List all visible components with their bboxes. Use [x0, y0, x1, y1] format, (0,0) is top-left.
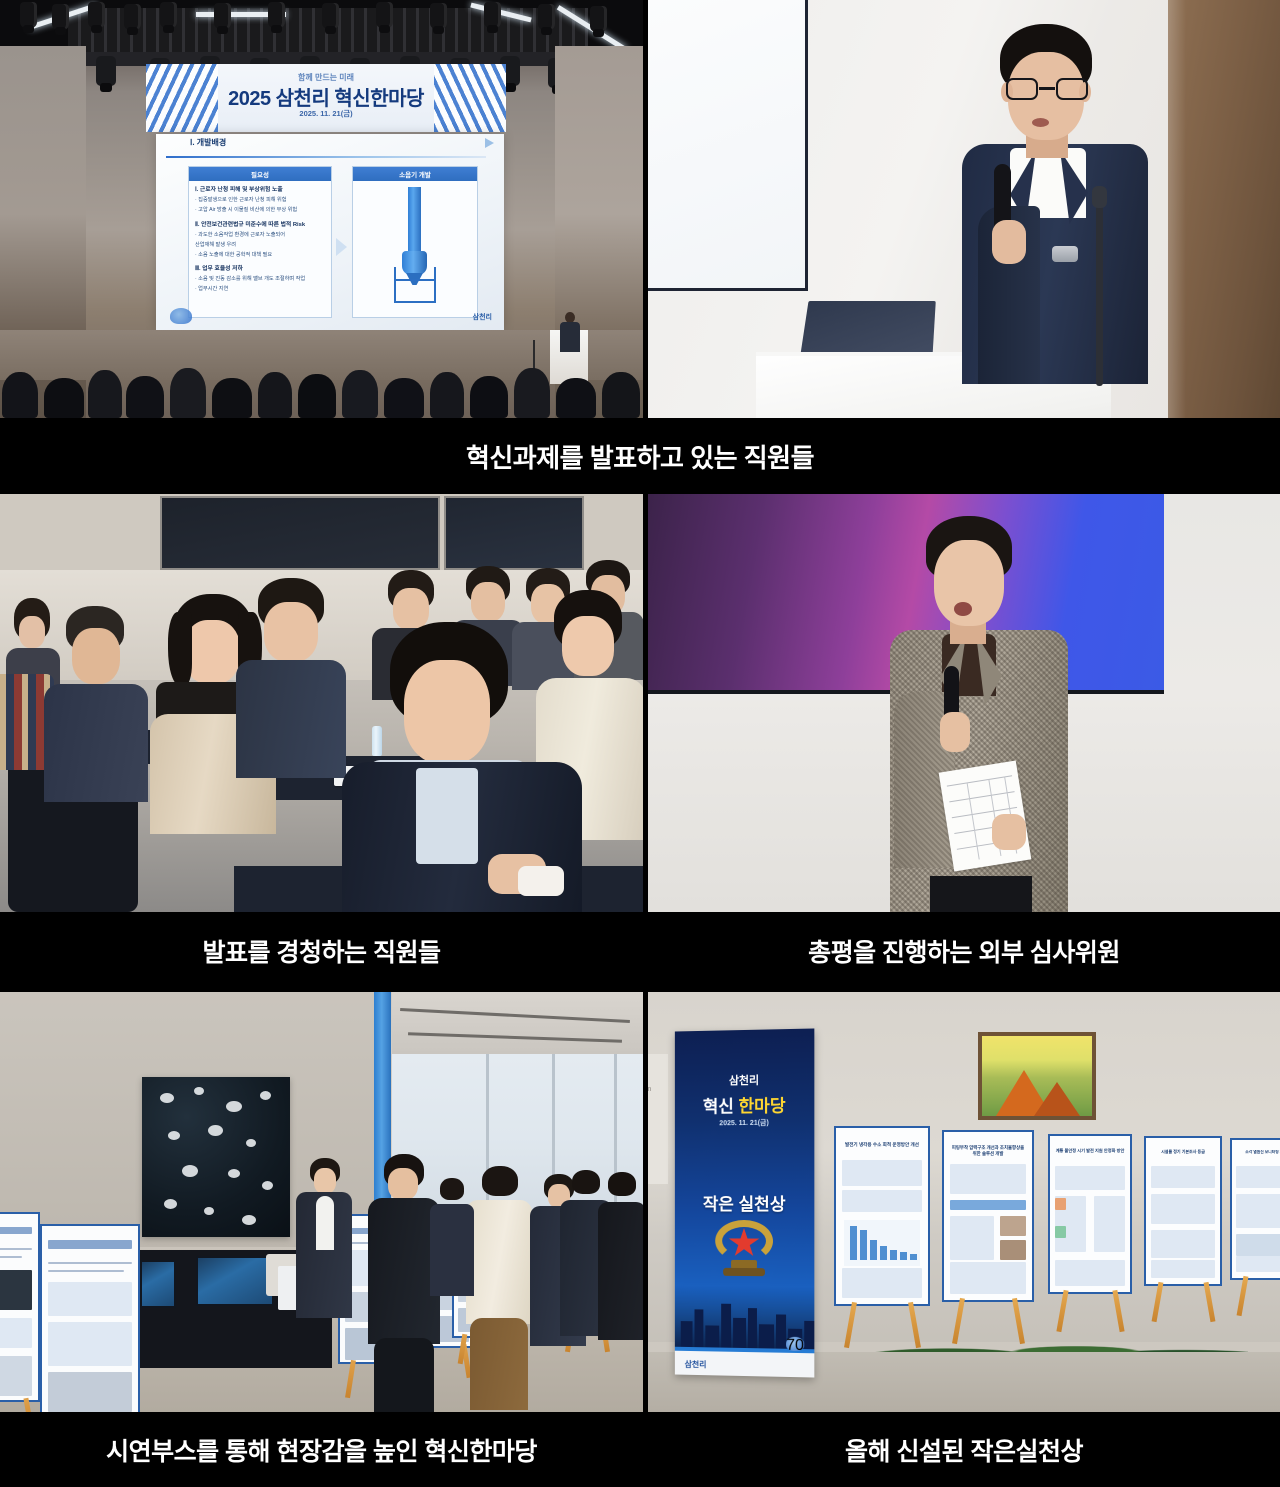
monitor-display — [140, 1260, 176, 1308]
banner-date: 2025. 11. 21(금) — [675, 1117, 814, 1128]
wood-wall-panel — [1168, 0, 1280, 418]
poster-easel — [0, 1212, 40, 1412]
slide-column-necessity-header: 필요성 — [189, 167, 331, 181]
presentation-screen — [648, 0, 808, 291]
silencer-device-illustration — [389, 187, 441, 305]
poster-easel: 피팅부착 압력구조 개선과 조치율향상을 위한 솔루션 개발 — [942, 1130, 1034, 1344]
audience-person — [236, 578, 346, 778]
slide-item-5: · 과도한 소음작업 환경에 근로자 노출되어 — [195, 231, 325, 241]
photo-small-practice-award-image: P실 P Room 삼천리 혁신 한마당 2025. 11. 21(금) 작은 … — [648, 992, 1280, 1412]
slide-item-8: Ⅲ. 업무 효율성 저하 — [195, 266, 243, 272]
slide-item-2: · 집중발생으로 인한 근로자 난청 피해 위험 — [195, 196, 325, 206]
slide-item-4: Ⅱ. 안전보건관련법규 미준수에 따른 법적 Risk — [195, 222, 305, 228]
glasses-icon — [1006, 78, 1088, 100]
anniversary-70-badge: 70 — [786, 1337, 804, 1351]
poster-title: 소각 열원진 모니터링 체계 — [1236, 1150, 1280, 1160]
poster-easel: 시설물 정기 기본조사 등급 — [1144, 1136, 1222, 1322]
slide-brand-logo: 삼천리 — [473, 312, 492, 322]
projection-slide: Ⅰ. 개발배경 필요성 Ⅰ. 근로자 난청 피해 및 부상위험 노출 · 집중발… — [156, 134, 504, 330]
slide-item-10: · 업무시간 지연 — [195, 285, 325, 295]
stage-banner-date: 2025. 11. 21(금) — [146, 108, 506, 119]
photo-presentation-stage: 함께 만드는 미래 2025 삼천리 혁신한마당 2025. 11. 21(금)… — [0, 0, 643, 418]
poster-title: 발전기 냉각용 수소 회적 운영방안 개선 — [842, 1142, 922, 1154]
banner-footer-brand: 삼천리 — [685, 1359, 707, 1370]
poster-title: 시설물 정기 기본조사 등급 — [1151, 1149, 1215, 1159]
slide-item-7: · 소음 노출에 대한 공학적 대책 필요 — [195, 251, 325, 261]
slide-item-1: Ⅰ. 근로자 난청 피해 및 부상위험 노출 — [195, 187, 283, 193]
wall-artwork — [142, 1077, 290, 1237]
booth-person — [466, 1166, 532, 1410]
caption-presentation: 혁신과제를 발표하고 있는 직원들 — [0, 418, 1280, 494]
photo-podium-speaker-image — [648, 0, 1280, 418]
slide-item-9: · 소음 및 진동 감소를 위해 밸브 개도 조절하며 작업 — [195, 275, 325, 285]
audience-person-foreground — [342, 622, 582, 912]
audience-silhouettes — [0, 360, 643, 418]
room-sign-line2: P Room — [648, 1086, 651, 1093]
photo-external-judge-image — [648, 494, 1280, 912]
poster-easel: 소각 열원진 모니터링 체계 — [1230, 1138, 1280, 1316]
poster-easel: 계통 불안정 시기 발전 지원 안정화 방안 — [1048, 1134, 1132, 1332]
stage-banner-title: 2025 삼천리 혁신한마당 — [146, 82, 506, 111]
room-sign — [648, 1054, 668, 1184]
anniversary-70-logo — [170, 308, 192, 324]
rollup-banner: 삼천리 혁신 한마당 2025. 11. 21(금) 작은 실천상 — [675, 1028, 814, 1377]
banner-award-name: 작은 실천상 — [675, 1190, 814, 1215]
photo-demo-booth-image — [0, 992, 643, 1412]
photo-external-judge — [648, 494, 1280, 912]
monitor-display — [196, 1256, 274, 1306]
slide-column-silencer: 소음기 개발 — [352, 166, 478, 318]
microphone-stand — [1096, 200, 1103, 386]
booth-person — [598, 1172, 643, 1340]
caption-award: 올해 신설된 작은실천상 — [648, 1412, 1280, 1487]
banner-title-part1: 혁신 — [703, 1097, 739, 1116]
poster-title: 계통 불안정 시기 발전 지원 안정화 방안 — [1055, 1148, 1125, 1159]
stage-presenter — [560, 312, 580, 352]
banner-brand-logo: 삼천리 — [675, 1071, 814, 1089]
photo-audience — [0, 494, 643, 912]
stage-banner: 함께 만드는 미래 2025 삼천리 혁신한마당 2025. 11. 21(금) — [146, 64, 506, 132]
booth-person — [430, 1178, 474, 1296]
slide-item-6: 산업재해 발생 우려 — [195, 241, 325, 251]
banner-title: 혁신 한마당 — [675, 1091, 814, 1118]
photo-small-practice-award: P실 P Room 삼천리 혁신 한마당 2025. 11. 21(금) 작은 … — [648, 992, 1280, 1412]
photo-gallery-page: 함께 만드는 미래 2025 삼천리 혁신한마당 2025. 11. 21(금)… — [0, 0, 1280, 1487]
caption-audience: 발표를 경청하는 직원들 — [0, 912, 643, 990]
trophy-icon — [711, 1220, 777, 1282]
poster-easel: 발전기 냉각용 수소 회적 운영방안 개선 — [834, 1126, 930, 1348]
slide-title: Ⅰ. 개발배경 — [190, 137, 226, 148]
caption-judge: 총평을 진행하는 외부 심사위원 — [648, 912, 1280, 990]
photo-audience-image — [0, 494, 643, 912]
poster-easel — [40, 1224, 140, 1412]
banner-title-part2: 한마당 — [739, 1096, 786, 1116]
booth-person — [296, 1158, 352, 1318]
arrow-icon — [336, 238, 347, 256]
play-triangle-icon — [485, 138, 494, 148]
audience-person — [44, 606, 148, 802]
photo-demo-booth — [0, 992, 643, 1412]
slide-column-necessity: 필요성 Ⅰ. 근로자 난청 피해 및 부상위험 노출 · 집중발생으로 인한 근… — [188, 166, 332, 318]
poster-title: 피팅부착 압력구조 개선과 조치율향상을 위한 솔루션 개발 — [950, 1145, 1026, 1157]
judge-person — [888, 516, 1098, 912]
photo-presentation-stage-image: 함께 만드는 미래 2025 삼천리 혁신한마당 2025. 11. 21(금)… — [0, 0, 643, 418]
wristwatch — [1052, 246, 1078, 262]
caption-demo-booth: 시연부스를 통해 현장감을 높인 혁신한마당 — [0, 1412, 643, 1487]
speaker-person — [948, 24, 1158, 384]
slide-item-3: · 고압 Air 방출 시 이물질 비산에 의한 부상 위험 — [195, 206, 325, 216]
wall-painting — [978, 1032, 1096, 1120]
photo-podium-speaker — [648, 0, 1280, 418]
slide-column-silencer-header: 소음기 개발 — [353, 167, 477, 181]
